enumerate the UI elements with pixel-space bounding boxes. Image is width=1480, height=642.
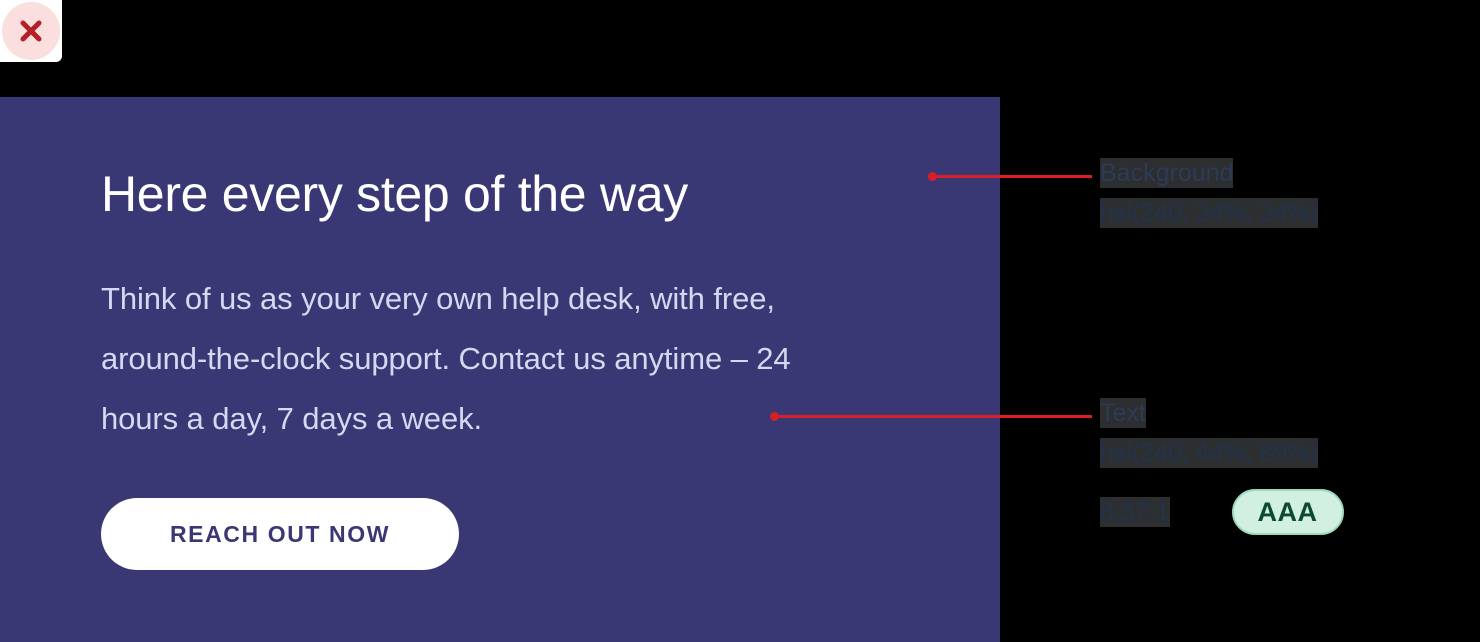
screenshot-root: Here every step of the way Think of us a… — [0, 0, 1480, 642]
annotation-background-value-wrap: hsl(240, 34%, 34%) — [1100, 188, 1318, 228]
leader-line-text — [774, 415, 1092, 418]
close-button[interactable] — [2, 2, 60, 60]
annotation-text-title: Text — [1100, 398, 1146, 428]
leader-line-background — [932, 175, 1092, 178]
contrast-ratio-row: 8.37:1 AAA — [1100, 489, 1344, 535]
annotation-background-title: Background — [1100, 158, 1233, 188]
close-button-plate — [0, 0, 62, 62]
annotation-text-value: hsl(240, 44%, 89%) — [1100, 438, 1318, 468]
close-icon — [16, 16, 46, 46]
annotation-text-value-wrap: hsl(240, 44%, 89%) — [1100, 428, 1318, 468]
promo-heading: Here every step of the way — [101, 165, 688, 223]
contrast-rating-badge: AAA — [1232, 489, 1344, 535]
promo-panel: Here every step of the way Think of us a… — [0, 97, 1000, 642]
annotation-background-value: hsl(240, 34%, 34%) — [1100, 198, 1318, 228]
promo-body-text: Think of us as your very own help desk, … — [101, 269, 841, 449]
annotation-text-title-wrap: Text — [1100, 398, 1318, 428]
annotation-background: Background hsl(240, 34%, 34%) — [1100, 158, 1318, 228]
annotation-background-title-wrap: Background — [1100, 158, 1318, 188]
annotation-text: Text hsl(240, 44%, 89%) — [1100, 398, 1318, 468]
reach-out-now-button[interactable]: REACH OUT NOW — [101, 498, 459, 570]
contrast-ratio-value: 8.37:1 — [1100, 497, 1170, 527]
